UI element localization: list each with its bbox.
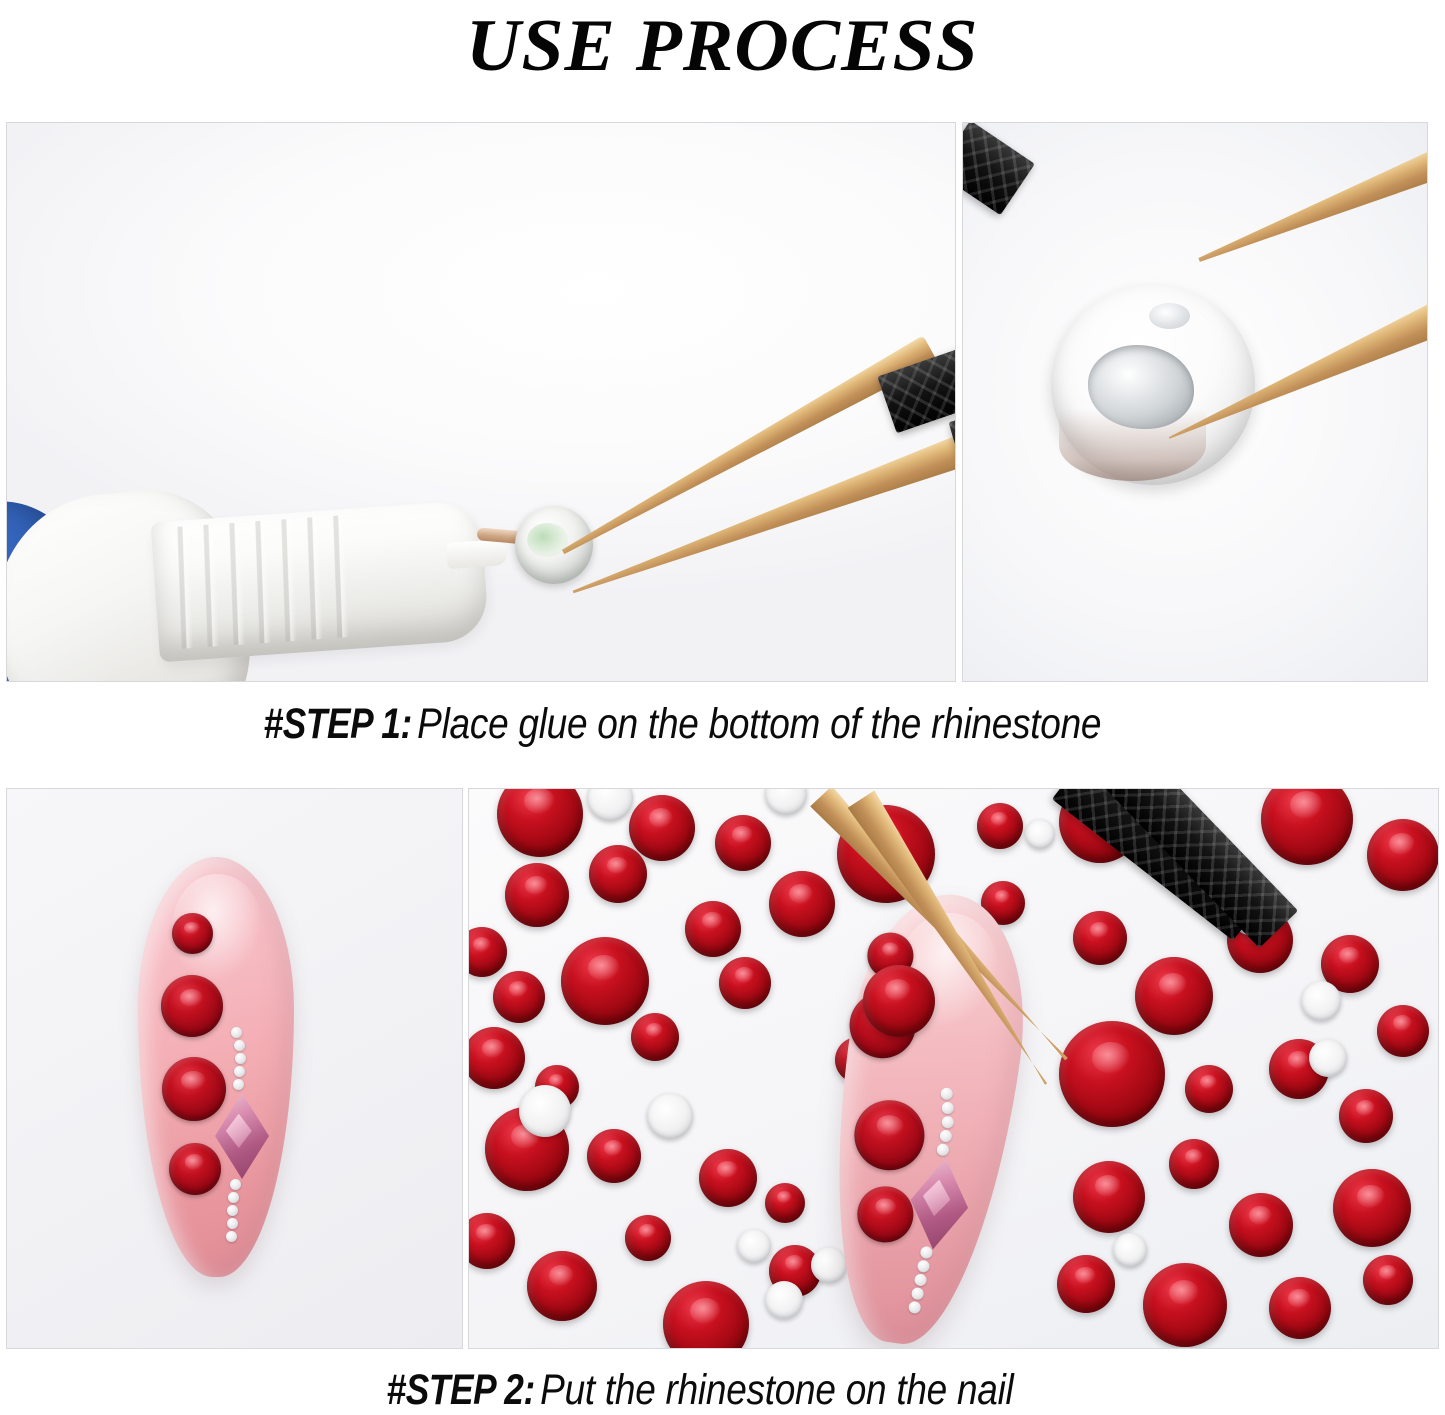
step-2-photo-scattered-rhinestones xyxy=(468,788,1439,1349)
glue-drop-small xyxy=(1149,303,1190,329)
scattered-rhinestone xyxy=(765,1183,805,1223)
scattered-rhinestone xyxy=(629,795,695,861)
scattered-rhinestone xyxy=(1143,1263,1227,1347)
step-2-photo-finished-nail xyxy=(6,788,463,1349)
scattered-rhinestone xyxy=(587,1129,641,1183)
scattered-rhinestone xyxy=(527,1251,597,1321)
step-1-photo-glue-bottle xyxy=(6,122,956,682)
red-rhinestone-small xyxy=(172,913,213,954)
pink-diamond-gem xyxy=(215,1093,269,1179)
scattered-rhinestone xyxy=(505,863,569,927)
scattered-rhinestone xyxy=(715,815,771,871)
step-2-text: Put the rhinestone on the nail xyxy=(535,1366,1014,1415)
step-2-label: #STEP 2: xyxy=(386,1366,534,1415)
scattered-rhinestone xyxy=(1339,1089,1393,1143)
rhinestone-flat-back xyxy=(1051,285,1255,485)
red-rhinestone-large xyxy=(162,1057,226,1121)
clear-crystal xyxy=(231,1027,242,1038)
red-rhinestone-medium xyxy=(854,1183,917,1246)
clear-crystal xyxy=(914,1273,928,1287)
pink-diamond-gem xyxy=(904,1154,974,1253)
rhinestone-flat-back-face-down xyxy=(647,1093,693,1139)
step-1-photo-glued-rhinestone xyxy=(962,122,1428,682)
scattered-rhinestone xyxy=(493,971,545,1023)
clear-crystal xyxy=(228,1192,239,1203)
scattered-rhinestone xyxy=(561,937,649,1025)
scattered-rhinestone xyxy=(719,957,771,1009)
rhinestone-flat-back-face-down xyxy=(1309,1039,1347,1077)
scattered-rhinestone xyxy=(625,1215,671,1261)
clear-crystal xyxy=(941,1115,955,1129)
step-1-text: Place glue on the bottom of the rhinesto… xyxy=(412,700,1101,749)
clear-crystal xyxy=(920,1246,934,1260)
scattered-rhinestone xyxy=(769,871,835,937)
glue-bottle-nozzle-tip xyxy=(446,539,508,569)
rhinestone-flat-back-face-down xyxy=(519,1085,571,1137)
clear-crystal xyxy=(226,1231,237,1242)
clear-crystal xyxy=(940,1087,954,1101)
rhinestone-flat-back-face-down xyxy=(811,1247,847,1283)
clear-crystal xyxy=(234,1066,245,1077)
clear-crystal xyxy=(227,1218,238,1229)
red-rhinestone-large xyxy=(161,975,223,1037)
rhinestone-flat-back-face-down xyxy=(737,1229,771,1263)
scattered-rhinestone xyxy=(631,1013,679,1061)
scattered-rhinestone xyxy=(1059,1021,1165,1127)
rhinestone-flat-back-face-down xyxy=(765,1281,803,1319)
scattered-rhinestone xyxy=(699,1149,757,1207)
rhinestone-flat-back-face-down xyxy=(1025,819,1055,849)
scattered-rhinestone xyxy=(1269,1277,1331,1339)
scattered-rhinestone xyxy=(1073,911,1127,965)
scattered-rhinestone xyxy=(589,845,647,903)
page-title: USE PROCESS xyxy=(0,0,1445,92)
step-1-label: #STEP 1: xyxy=(264,700,412,749)
clear-crystal xyxy=(941,1101,955,1115)
scattered-rhinestone xyxy=(977,803,1023,849)
scattered-rhinestone xyxy=(1135,957,1213,1035)
clear-crystal xyxy=(936,1143,950,1157)
clear-crystal xyxy=(939,1129,953,1143)
scattered-rhinestone xyxy=(685,901,741,957)
scattered-rhinestone xyxy=(1363,1255,1413,1305)
clear-crystal xyxy=(230,1179,241,1190)
scattered-rhinestone xyxy=(1073,1161,1145,1233)
clear-crystal xyxy=(908,1301,922,1315)
step-1-caption: #STEP 1:Place glue on the bottom of the … xyxy=(0,700,1445,749)
red-rhinestone-large xyxy=(850,1096,929,1175)
red-rhinestone-medium xyxy=(169,1143,221,1195)
scattered-rhinestone xyxy=(1333,1169,1411,1247)
scattered-rhinestone xyxy=(1377,1005,1429,1057)
scattered-rhinestone xyxy=(1185,1065,1233,1113)
rhinestone-flat-back-face-down xyxy=(1301,981,1341,1021)
scattered-rhinestone xyxy=(1169,1139,1219,1189)
rhinestone-flat-back-face-down xyxy=(1113,1233,1147,1267)
clear-crystal xyxy=(917,1259,931,1273)
clear-crystal xyxy=(227,1205,238,1216)
clear-crystal xyxy=(233,1079,244,1090)
clear-crystal xyxy=(235,1053,246,1064)
title-text: USE PROCESS xyxy=(466,4,979,89)
rhinestone-being-placed xyxy=(863,965,935,1037)
clear-crystal xyxy=(234,1040,245,1051)
scattered-rhinestone xyxy=(1229,1193,1293,1257)
scattered-rhinestone xyxy=(1057,1255,1115,1313)
scattered-rhinestone xyxy=(1367,819,1439,891)
glue-drop xyxy=(1088,345,1194,429)
clear-crystal xyxy=(911,1287,925,1301)
glue-bottle-nozzle-ribs xyxy=(163,515,361,650)
step-2-caption: #STEP 2:Put the rhinestone on the nail xyxy=(0,1366,1445,1415)
